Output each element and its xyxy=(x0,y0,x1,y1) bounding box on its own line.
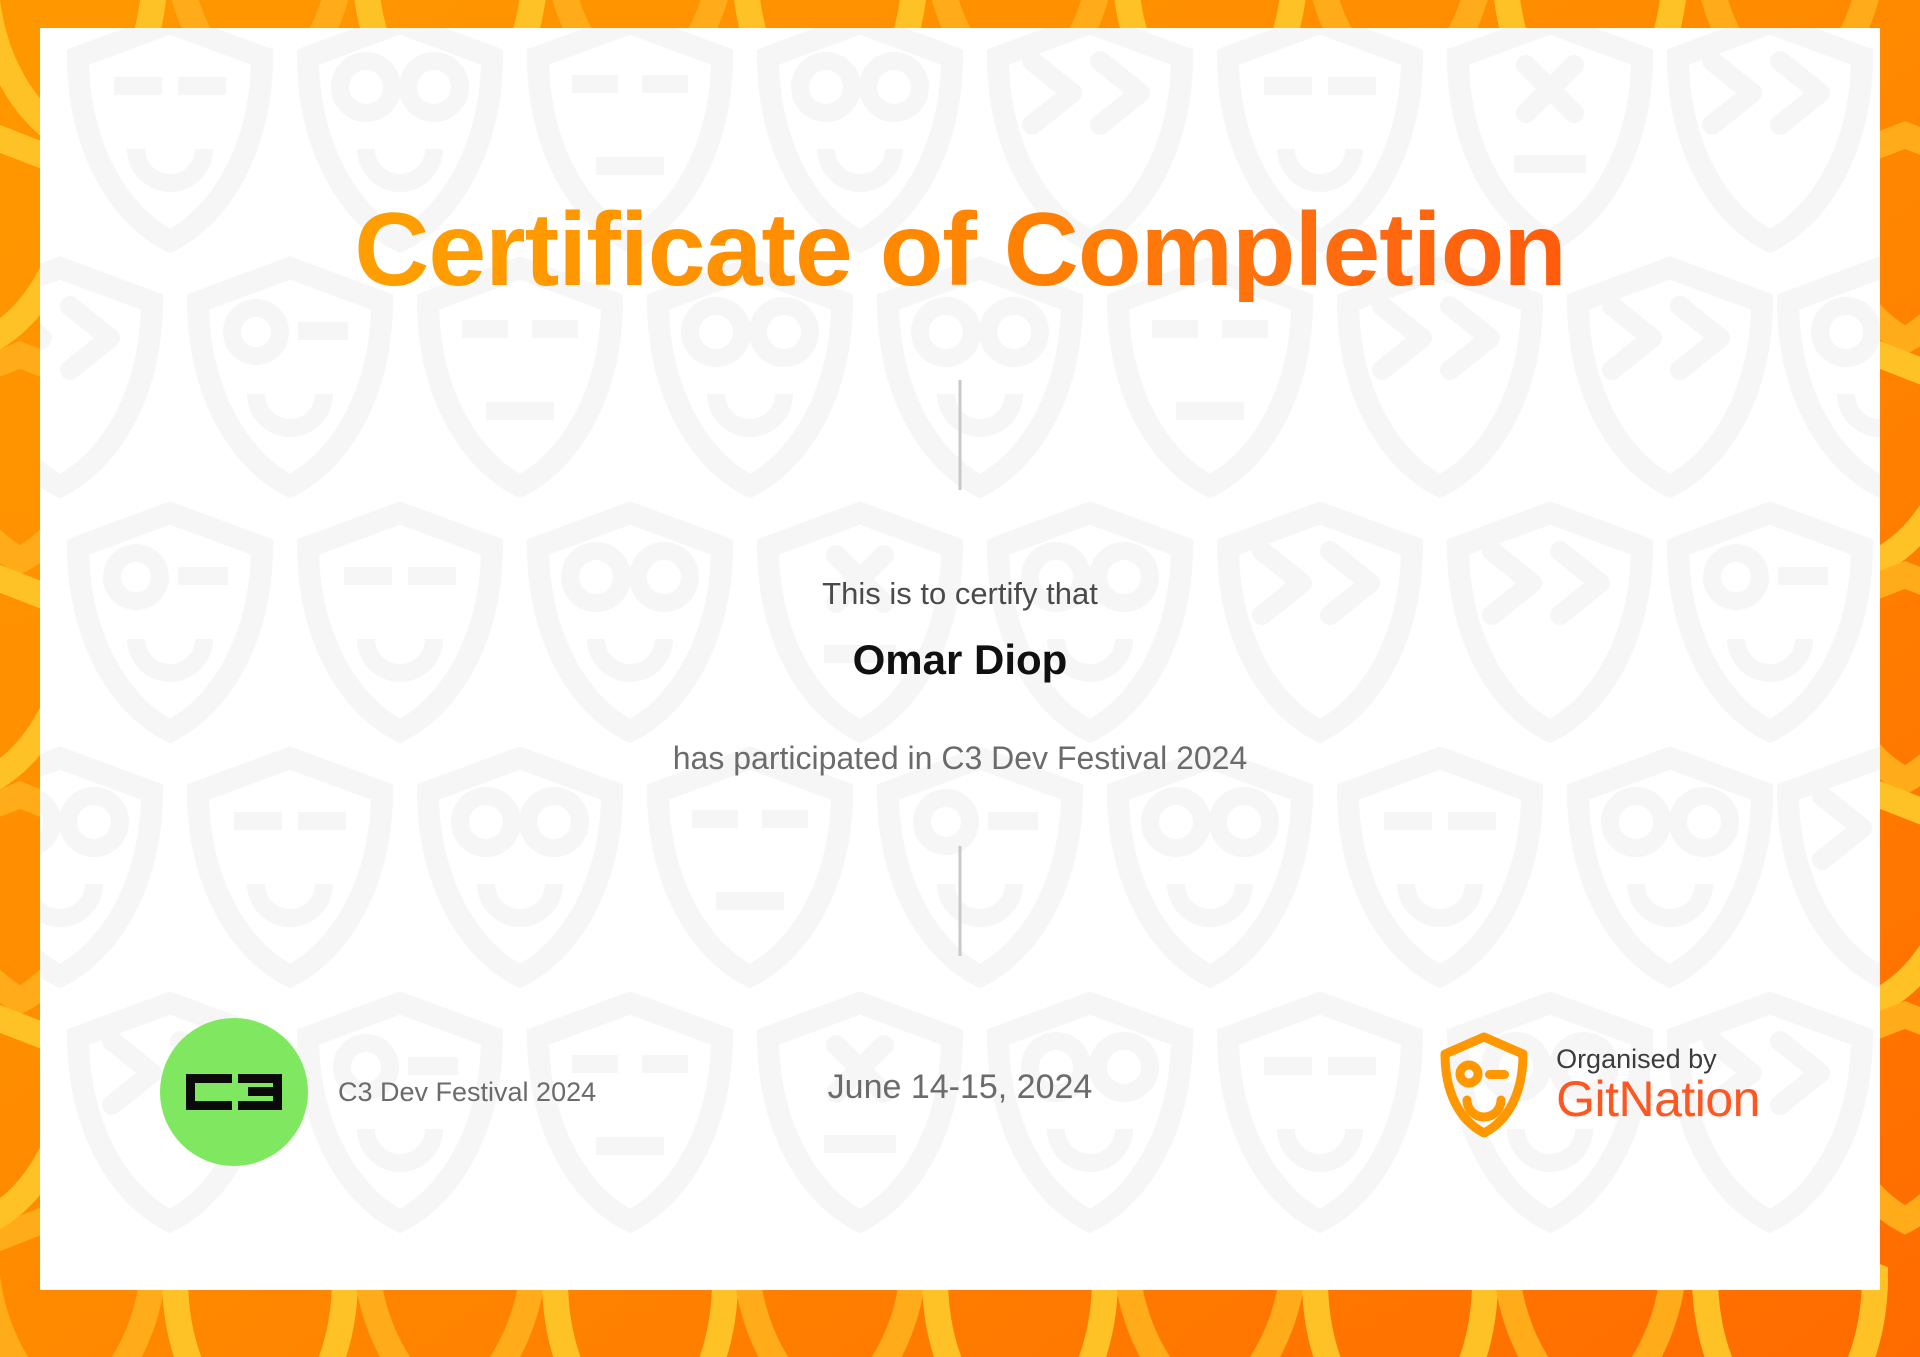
certify-line: This is to certify that xyxy=(40,576,1880,612)
recipient-name: Omar Diop xyxy=(40,636,1880,684)
organised-by-label: Organised by xyxy=(1556,1045,1760,1073)
divider-bottom xyxy=(959,846,962,956)
gitnation-shield-icon xyxy=(1436,1030,1532,1140)
certificate-footer: C3 Dev Festival 2024 June 14-15, 2024 xyxy=(40,1008,1880,1208)
divider-top xyxy=(959,380,962,490)
event-date: June 14-15, 2024 xyxy=(828,1068,1093,1106)
certificate-card: Certificate of Completion This is to cer… xyxy=(40,28,1880,1290)
participation-line: has participated in C3 Dev Festival 2024 xyxy=(40,740,1880,777)
page-title: Certificate of Completion xyxy=(40,198,1880,302)
certificate-document: Certificate of Completion This is to cer… xyxy=(0,0,1920,1357)
organiser-text: Organised by GitNation xyxy=(1556,1045,1760,1126)
organiser-name: GitNation xyxy=(1556,1073,1760,1126)
organiser-block: Organised by GitNation xyxy=(1436,1030,1760,1140)
